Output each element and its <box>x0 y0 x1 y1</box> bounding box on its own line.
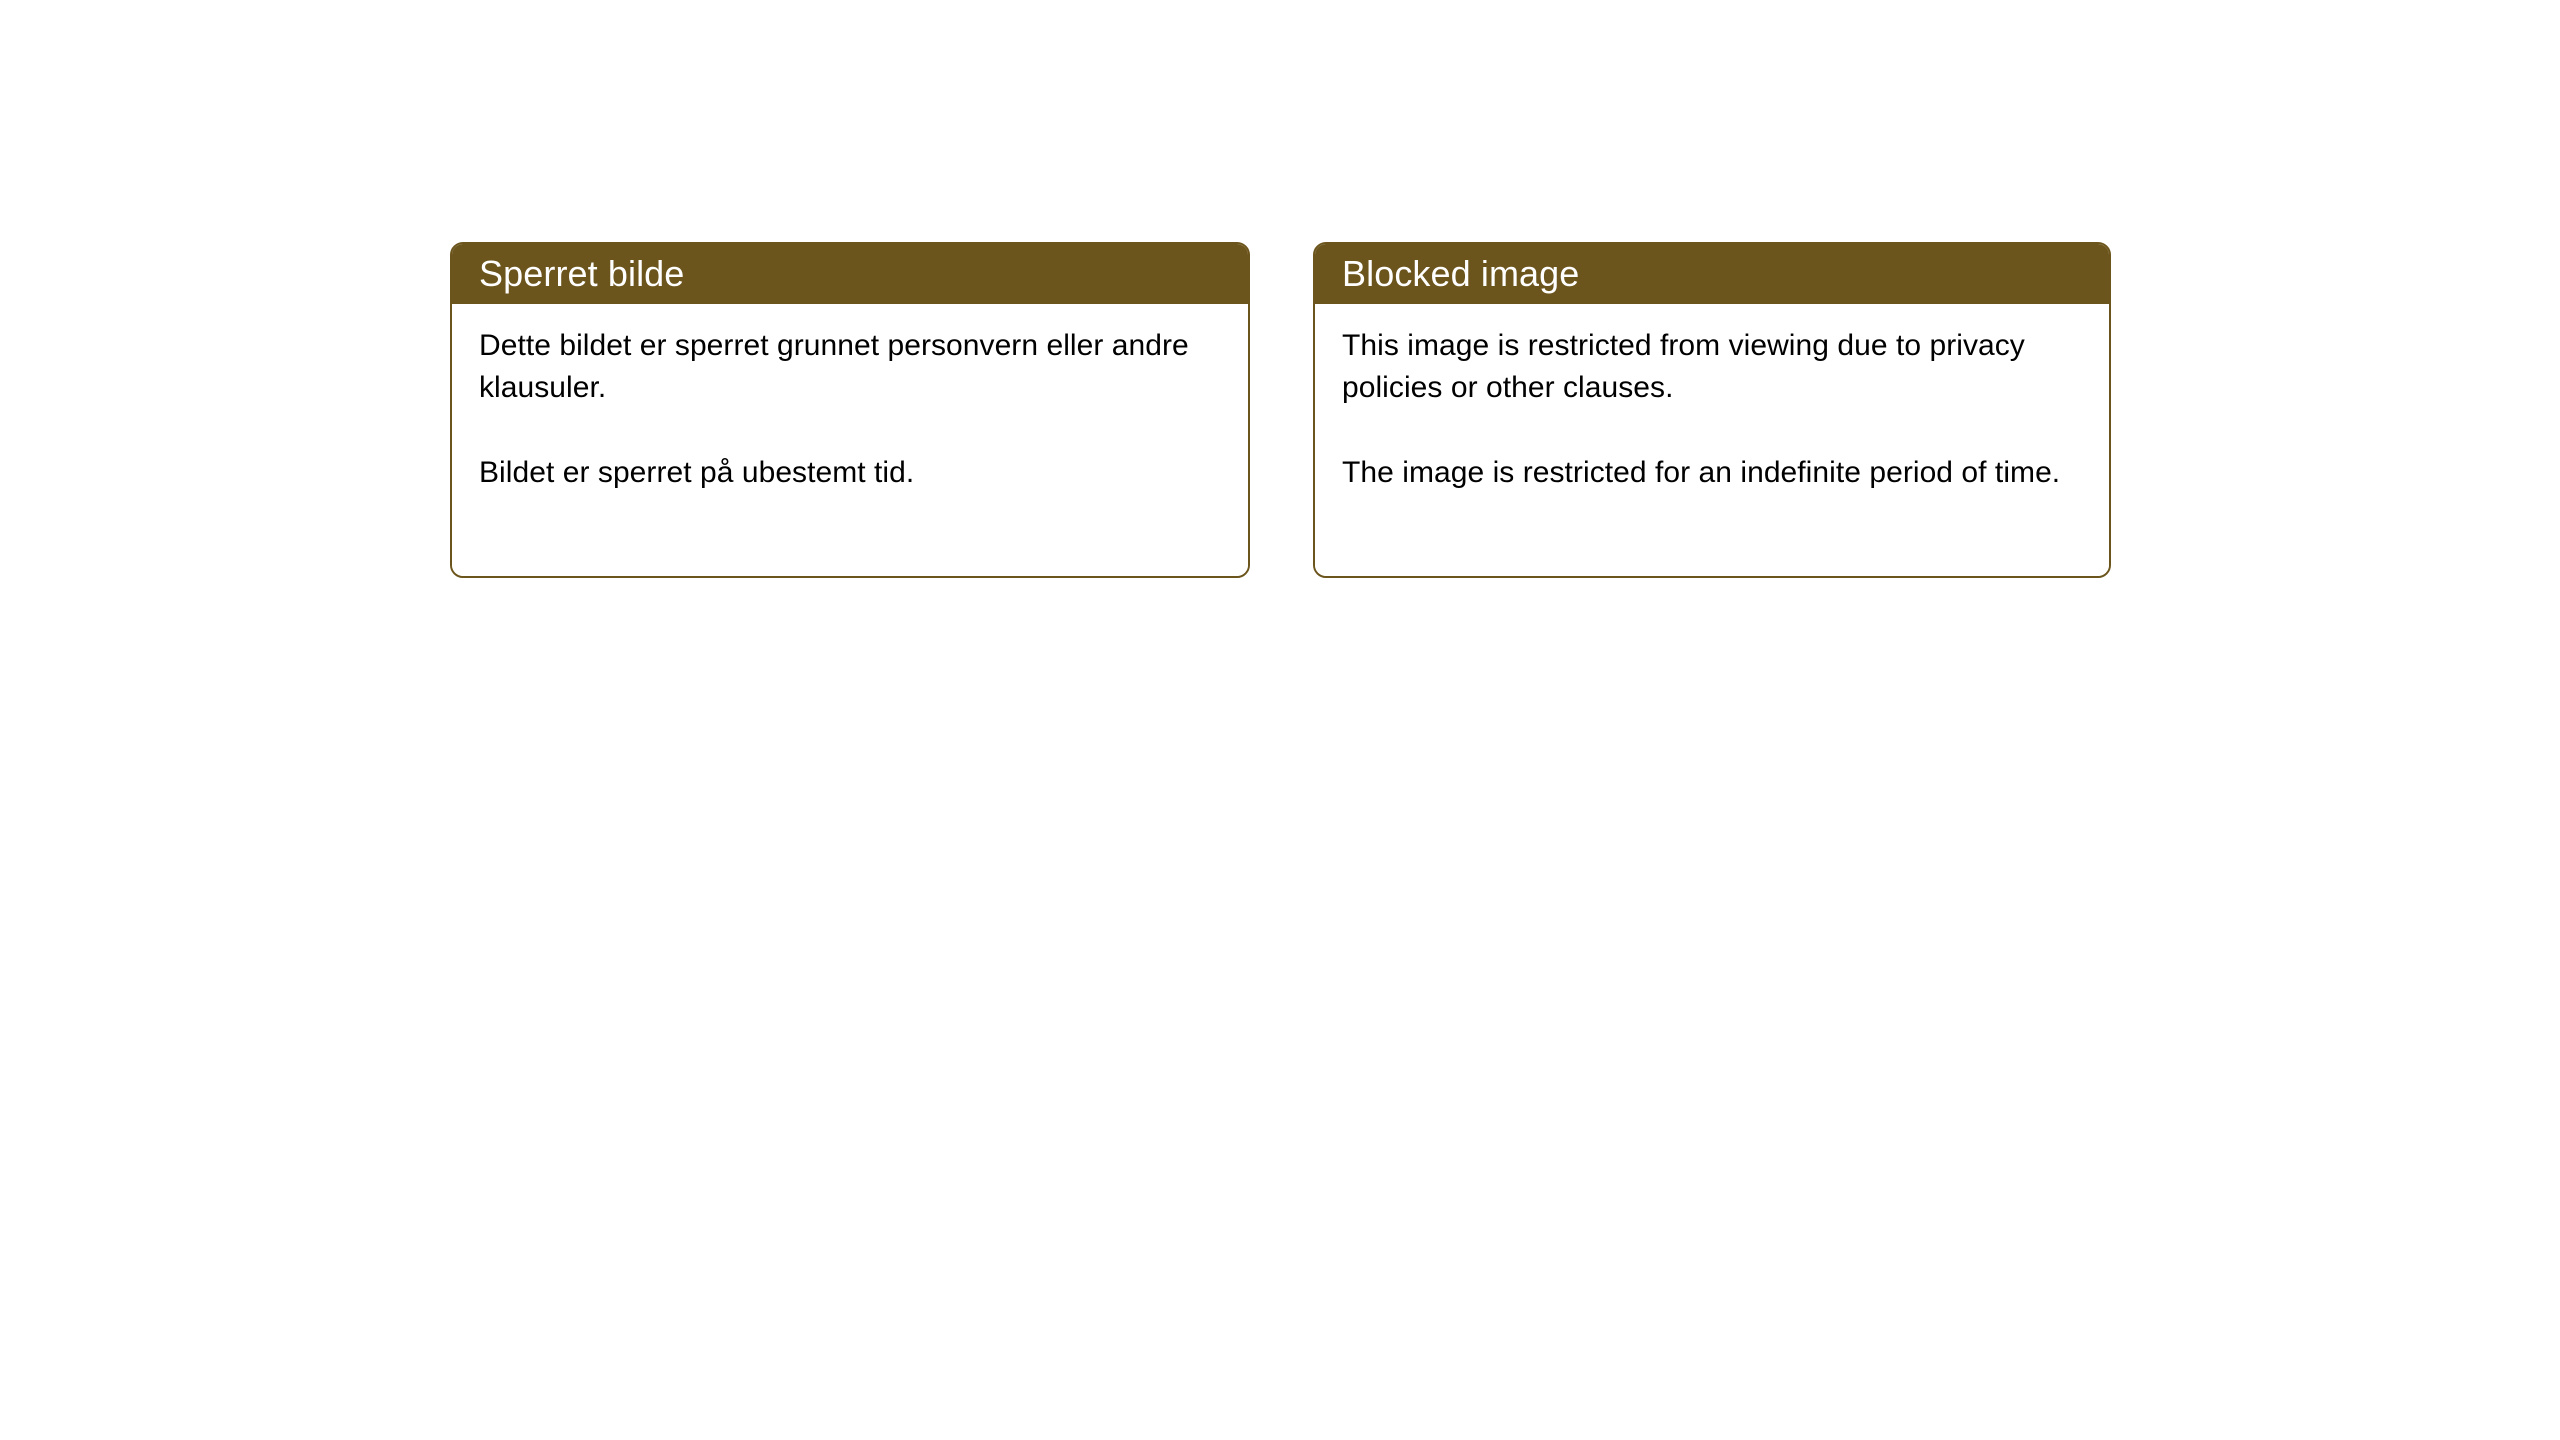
card-header-english: Blocked image <box>1315 244 2109 304</box>
card-body-english: This image is restricted from viewing du… <box>1315 304 2109 576</box>
card-paragraph-primary-norwegian: Dette bildet er sperret grunnet personve… <box>479 325 1230 409</box>
card-paragraph-secondary-norwegian: Bildet er sperret på ubestemt tid. <box>479 452 1230 494</box>
card-paragraph-primary-english: This image is restricted from viewing du… <box>1342 325 2091 409</box>
blocked-image-card-english: Blocked image This image is restricted f… <box>1313 242 2111 578</box>
paragraph-spacer-english <box>1342 409 2091 452</box>
blocked-image-card-norwegian: Sperret bilde Dette bildet er sperret gr… <box>450 242 1250 578</box>
blocked-image-notice-group: Sperret bilde Dette bildet er sperret gr… <box>450 242 2111 578</box>
paragraph-spacer-norwegian <box>479 409 1230 452</box>
card-header-norwegian: Sperret bilde <box>452 244 1248 304</box>
card-body-norwegian: Dette bildet er sperret grunnet personve… <box>452 304 1248 576</box>
card-title-norwegian: Sperret bilde <box>479 256 684 292</box>
card-paragraph-secondary-english: The image is restricted for an indefinit… <box>1342 452 2091 494</box>
card-title-english: Blocked image <box>1342 256 1579 292</box>
